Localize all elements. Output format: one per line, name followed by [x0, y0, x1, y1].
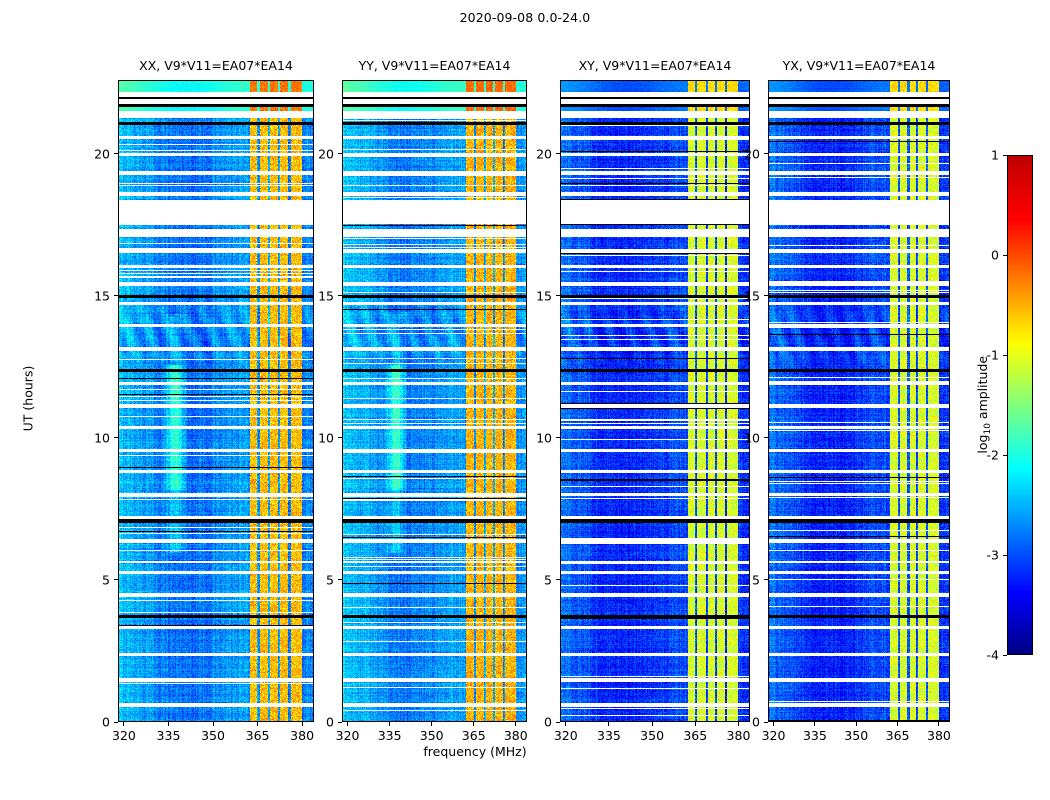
x-tickmark: [389, 722, 390, 726]
y-tick-label: 15: [300, 288, 334, 303]
colorbar-tickmark: [1003, 655, 1007, 656]
x-tick-label: 335: [589, 728, 629, 743]
waterfall-image-xy: [561, 81, 750, 722]
x-tickmark: [773, 722, 774, 726]
x-tick-label: 320: [104, 728, 144, 743]
x-tickmark: [856, 722, 857, 726]
colorbar-label: log10 amplitude: [975, 305, 993, 505]
x-tick-label: 335: [148, 728, 188, 743]
y-tickmark: [338, 722, 342, 723]
figure-canvas: 2020-09-08 0.0-24.0 XX, V9*V11=EA07*EA14…: [0, 0, 1050, 800]
y-tick-label: 20: [726, 146, 760, 161]
y-tick-label: 10: [518, 430, 552, 445]
x-tick-label: 380: [718, 728, 758, 743]
y-tick-label: 5: [300, 572, 334, 587]
y-tickmark: [764, 295, 768, 296]
y-tick-label: 10: [726, 430, 760, 445]
x-tick-label: 380: [282, 728, 322, 743]
colorbar-label-text: log10 amplitude: [975, 356, 990, 454]
y-tickmark: [556, 437, 560, 438]
waterfall-image-yx: [769, 81, 950, 722]
colorbar-tickmark: [1003, 455, 1007, 456]
y-tickmark: [764, 153, 768, 154]
y-tick-label: 20: [300, 146, 334, 161]
y-tick-label: 5: [726, 572, 760, 587]
x-tick-label: 335: [795, 728, 835, 743]
y-tick-label: 5: [518, 572, 552, 587]
x-tickmark: [123, 722, 124, 726]
waterfall-image-xx: [119, 81, 314, 722]
colorbar-tick-label: -3: [959, 548, 999, 563]
y-tick-label: 15: [518, 288, 552, 303]
colorbar-tickmark: [1003, 555, 1007, 556]
colorbar-tick-label: 1: [959, 148, 999, 163]
y-tickmark: [114, 579, 118, 580]
x-tick-label: 320: [754, 728, 794, 743]
x-tickmark: [257, 722, 258, 726]
x-tick-label: 350: [412, 728, 452, 743]
y-tickmark: [556, 722, 560, 723]
waterfall-axes-yy[interactable]: [342, 80, 527, 722]
y-tickmark: [556, 295, 560, 296]
y-tickmark: [338, 153, 342, 154]
x-tickmark: [608, 722, 609, 726]
y-tickmark: [338, 295, 342, 296]
y-tick-label: 15: [76, 288, 110, 303]
x-tickmark: [347, 722, 348, 726]
waterfall-axes-xy[interactable]: [560, 80, 750, 722]
x-tickmark: [652, 722, 653, 726]
x-tick-label: 350: [632, 728, 672, 743]
x-tickmark: [515, 722, 516, 726]
waterfall-axes-xx[interactable]: [118, 80, 314, 722]
y-tick-label: 20: [76, 146, 110, 161]
colorbar-tick-label: -4: [959, 648, 999, 663]
x-tick-label: 380: [919, 728, 959, 743]
y-tickmark: [764, 579, 768, 580]
x-tick-label: 350: [193, 728, 233, 743]
x-tick-label: 365: [878, 728, 918, 743]
x-tick-label: 380: [496, 728, 536, 743]
x-tickmark: [565, 722, 566, 726]
waterfall-image-yy: [343, 81, 527, 722]
y-tickmark: [338, 579, 342, 580]
x-tick-label: 320: [328, 728, 368, 743]
colorbar-tickmark: [1003, 155, 1007, 156]
x-tick-label: 365: [454, 728, 494, 743]
y-tickmark: [114, 437, 118, 438]
x-tickmark: [213, 722, 214, 726]
y-tickmark: [556, 153, 560, 154]
x-axis-label: frequency (MHz): [360, 744, 590, 759]
y-tickmark: [114, 722, 118, 723]
y-tickmark: [114, 153, 118, 154]
x-tickmark: [695, 722, 696, 726]
panel-title-yx: YX, V9*V11=EA07*EA14: [729, 58, 989, 73]
x-tickmark: [897, 722, 898, 726]
y-tick-label: 15: [726, 288, 760, 303]
x-tick-label: 350: [836, 728, 876, 743]
waterfall-axes-yx[interactable]: [768, 80, 950, 722]
x-tickmark: [431, 722, 432, 726]
y-tickmark: [764, 722, 768, 723]
y-axis-label: UT (hours): [21, 329, 36, 469]
colorbar-tickmark: [1003, 255, 1007, 256]
colorbar-tick-label: 0: [959, 248, 999, 263]
y-tick-label: 10: [76, 430, 110, 445]
x-tickmark: [814, 722, 815, 726]
x-tick-label: 320: [546, 728, 586, 743]
x-tickmark: [473, 722, 474, 726]
colorbar-tickmark: [1003, 355, 1007, 356]
colorbar: [1007, 155, 1033, 655]
x-tickmark: [168, 722, 169, 726]
y-tickmark: [114, 295, 118, 296]
figure-suptitle: 2020-09-08 0.0-24.0: [0, 10, 1050, 25]
x-tick-label: 365: [238, 728, 278, 743]
y-tickmark: [556, 579, 560, 580]
y-tick-label: 10: [300, 430, 334, 445]
y-tick-label: 5: [76, 572, 110, 587]
y-tick-label: 20: [518, 146, 552, 161]
y-tickmark: [764, 437, 768, 438]
y-tickmark: [338, 437, 342, 438]
x-tick-label: 365: [675, 728, 715, 743]
x-tick-label: 335: [370, 728, 410, 743]
x-tickmark: [938, 722, 939, 726]
